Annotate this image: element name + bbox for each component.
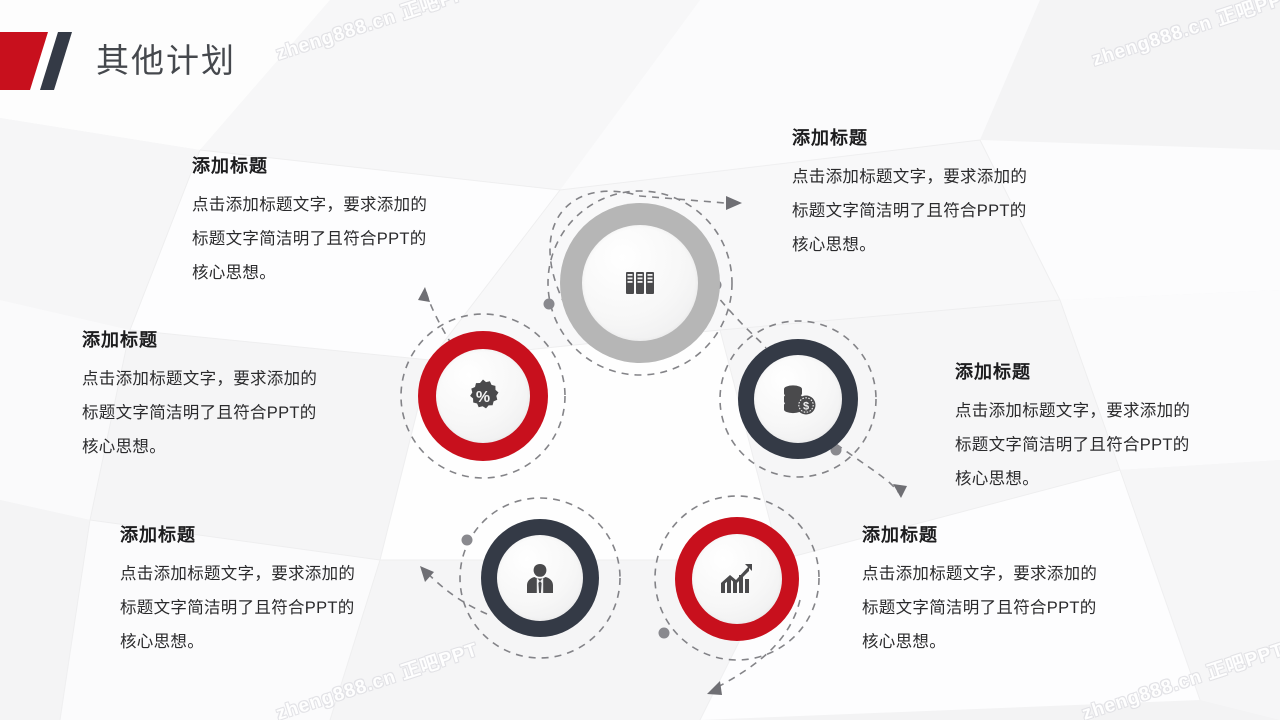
node-money[interactable]: $ <box>738 339 858 459</box>
block-body: 点击添加标题文字，要求添加的 标题文字简洁明了且符合PPT的 核心思想。 <box>955 394 1245 496</box>
node-buildings[interactable] <box>560 203 720 363</box>
block-title: 添加标题 <box>120 521 410 547</box>
block-title: 添加标题 <box>955 358 1245 384</box>
block-body-line: 点击添加标题文字，要求添加的 <box>862 557 1152 591</box>
block-body-line: 核心思想。 <box>955 462 1245 496</box>
block-body-line: 核心思想。 <box>120 625 410 659</box>
node-growth[interactable] <box>675 517 799 641</box>
block-body-line: 标题文字简洁明了且符合PPT的 <box>862 591 1152 625</box>
block-body-line: 点击添加标题文字，要求添加的 <box>120 557 410 591</box>
connector-path-6 <box>426 292 452 345</box>
arrowhead-down-left <box>707 681 722 695</box>
node-percent[interactable]: % <box>418 331 548 461</box>
block-body-line: 点击添加标题文字，要求添加的 <box>192 188 482 222</box>
block-body: 点击添加标题文字，要求添加的 标题文字简洁明了且符合PPT的 核心思想。 <box>82 362 372 464</box>
svg-text:$: $ <box>803 401 809 413</box>
block-body-line: 核心思想。 <box>82 430 372 464</box>
connector-dot <box>544 299 555 310</box>
block-body-line: 标题文字简洁明了且符合PPT的 <box>120 591 410 625</box>
block-body-line: 核心思想。 <box>192 256 482 290</box>
businessman-icon <box>522 560 558 596</box>
connector-path-5 <box>426 572 487 614</box>
block-body-line: 标题文字简洁明了且符合PPT的 <box>792 194 1082 228</box>
arrowhead-down-right <box>893 484 907 498</box>
arrowhead-right <box>726 196 742 210</box>
block-title: 添加标题 <box>192 152 482 178</box>
svg-text:%: % <box>476 389 490 406</box>
block-title: 添加标题 <box>792 124 1082 150</box>
connector-dot <box>659 628 670 639</box>
block-body-line: 点击添加标题文字，要求添加的 <box>82 362 372 396</box>
block-mid-left: 添加标题 点击添加标题文字，要求添加的 标题文字简洁明了且符合PPT的 核心思想… <box>82 326 372 464</box>
block-title: 添加标题 <box>82 326 372 352</box>
block-body: 点击添加标题文字，要求添加的 标题文字简洁明了且符合PPT的 核心思想。 <box>862 557 1152 659</box>
block-body: 点击添加标题文字，要求添加的 标题文字简洁明了且符合PPT的 核心思想。 <box>120 557 410 659</box>
growth-chart-icon <box>718 562 756 596</box>
block-body-line: 核心思想。 <box>792 228 1082 262</box>
block-body-line: 点击添加标题文字，要求添加的 <box>792 160 1082 194</box>
percent-badge-icon: % <box>465 378 501 414</box>
connector-path-2 <box>712 290 766 348</box>
block-body-line: 核心思想。 <box>862 625 1152 659</box>
arrowhead-up-left-low <box>420 566 434 582</box>
block-bottom-left: 添加标题 点击添加标题文字，要求添加的 标题文字简洁明了且符合PPT的 核心思想… <box>120 521 410 659</box>
block-body-line: 点击添加标题文字，要求添加的 <box>955 394 1245 428</box>
block-body-line: 标题文字简洁明了且符合PPT的 <box>955 428 1245 462</box>
block-body-line: 标题文字简洁明了且符合PPT的 <box>82 396 372 430</box>
node-person[interactable] <box>481 519 599 637</box>
block-title: 添加标题 <box>862 521 1152 547</box>
connector-dot <box>462 535 473 546</box>
block-top-right: 添加标题 点击添加标题文字，要求添加的 标题文字简洁明了且符合PPT的 核心思想… <box>792 124 1082 262</box>
block-top-left: 添加标题 点击添加标题文字，要求添加的 标题文字简洁明了且符合PPT的 核心思想… <box>192 152 482 290</box>
connector-path-3 <box>836 444 898 492</box>
block-body: 点击添加标题文字，要求添加的 标题文字简洁明了且符合PPT的 核心思想。 <box>192 188 482 290</box>
block-bottom-right: 添加标题 点击添加标题文字，要求添加的 标题文字简洁明了且符合PPT的 核心思想… <box>862 521 1152 659</box>
slide-canvas: zheng888.cn 正吧PPT zheng888.cn 正吧PPT zhen… <box>0 0 1280 720</box>
buildings-icon <box>620 263 660 303</box>
block-body: 点击添加标题文字，要求添加的 标题文字简洁明了且符合PPT的 核心思想。 <box>792 160 1082 262</box>
money-coins-icon: $ <box>779 382 817 416</box>
block-mid-right: 添加标题 点击添加标题文字，要求添加的 标题文字简洁明了且符合PPT的 核心思想… <box>955 358 1245 496</box>
block-body-line: 标题文字简洁明了且符合PPT的 <box>192 222 482 256</box>
